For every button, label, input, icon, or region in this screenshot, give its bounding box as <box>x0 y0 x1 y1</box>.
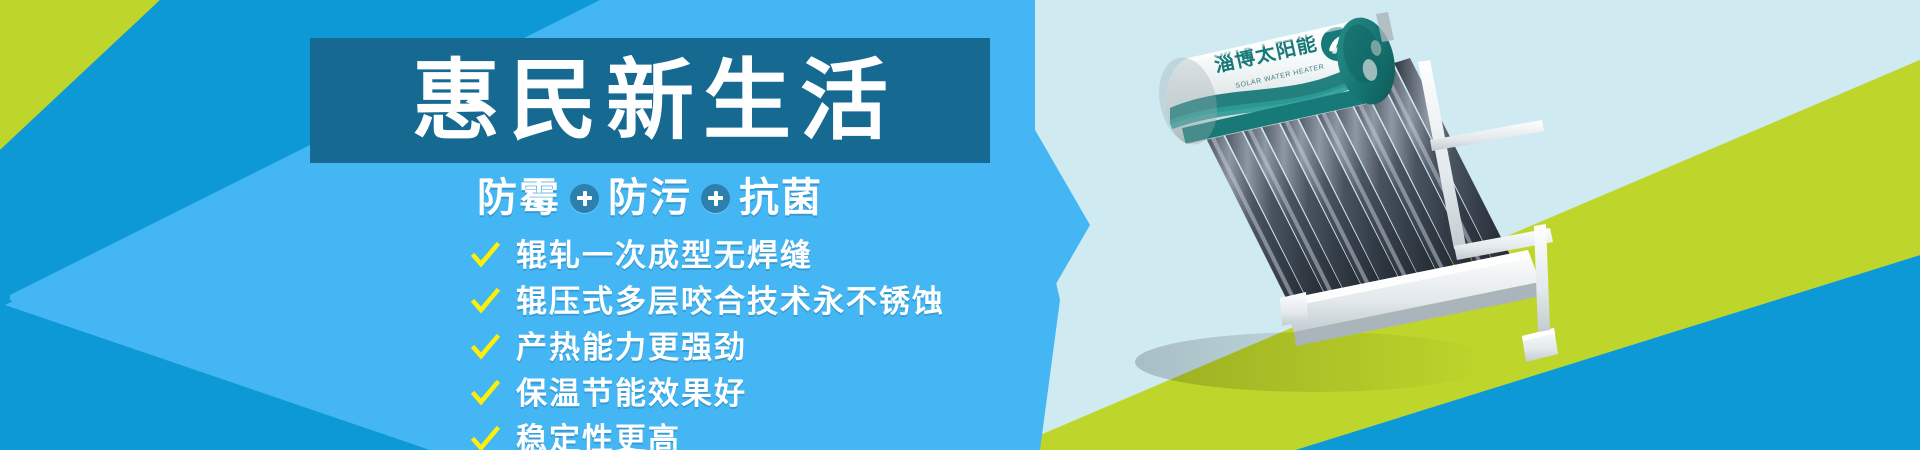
feature-item: 稳定性更高 <box>470 420 945 450</box>
feature-item: 保温节能效果好 <box>470 374 945 414</box>
promo-banner: 惠民新生活 防霉 防污 抗菌 辊轧一次成型无焊缝 辊压式多层咬合技术永不锈蚀 产… <box>0 0 1920 450</box>
subtitle-part-3: 抗菌 <box>739 178 823 218</box>
feature-item: 辊压式多层咬合技术永不锈蚀 <box>470 282 945 322</box>
check-icon <box>470 241 500 271</box>
subtitle-row: 防霉 防污 抗菌 <box>310 172 990 224</box>
feature-item: 产热能力更强劲 <box>470 328 945 368</box>
plus-circle-icon <box>570 184 599 213</box>
plus-circle-icon <box>701 184 730 213</box>
check-icon <box>470 379 500 409</box>
subtitle-part-2: 防污 <box>608 178 692 218</box>
feature-list: 辊轧一次成型无焊缝 辊压式多层咬合技术永不锈蚀 产热能力更强劲 保温节能效果好 <box>470 236 945 450</box>
headline-box: 惠民新生活 <box>310 38 990 163</box>
feature-label: 稳定性更高 <box>516 425 681 450</box>
headline-text: 惠民新生活 <box>403 57 897 145</box>
feature-label: 辊轧一次成型无焊缝 <box>516 241 813 272</box>
subtitle-part-1: 防霉 <box>477 178 561 218</box>
check-icon <box>470 425 500 450</box>
feature-item: 辊轧一次成型无焊缝 <box>470 236 945 276</box>
check-icon <box>470 287 500 317</box>
feature-label: 辊压式多层咬合技术永不锈蚀 <box>516 287 945 318</box>
feature-label: 产热能力更强劲 <box>516 333 747 364</box>
check-icon <box>470 333 500 363</box>
feature-label: 保温节能效果好 <box>516 379 747 410</box>
solar-water-heater-image: 淄博太阳能 SOLAR WATER HEATER <box>1130 0 1600 450</box>
